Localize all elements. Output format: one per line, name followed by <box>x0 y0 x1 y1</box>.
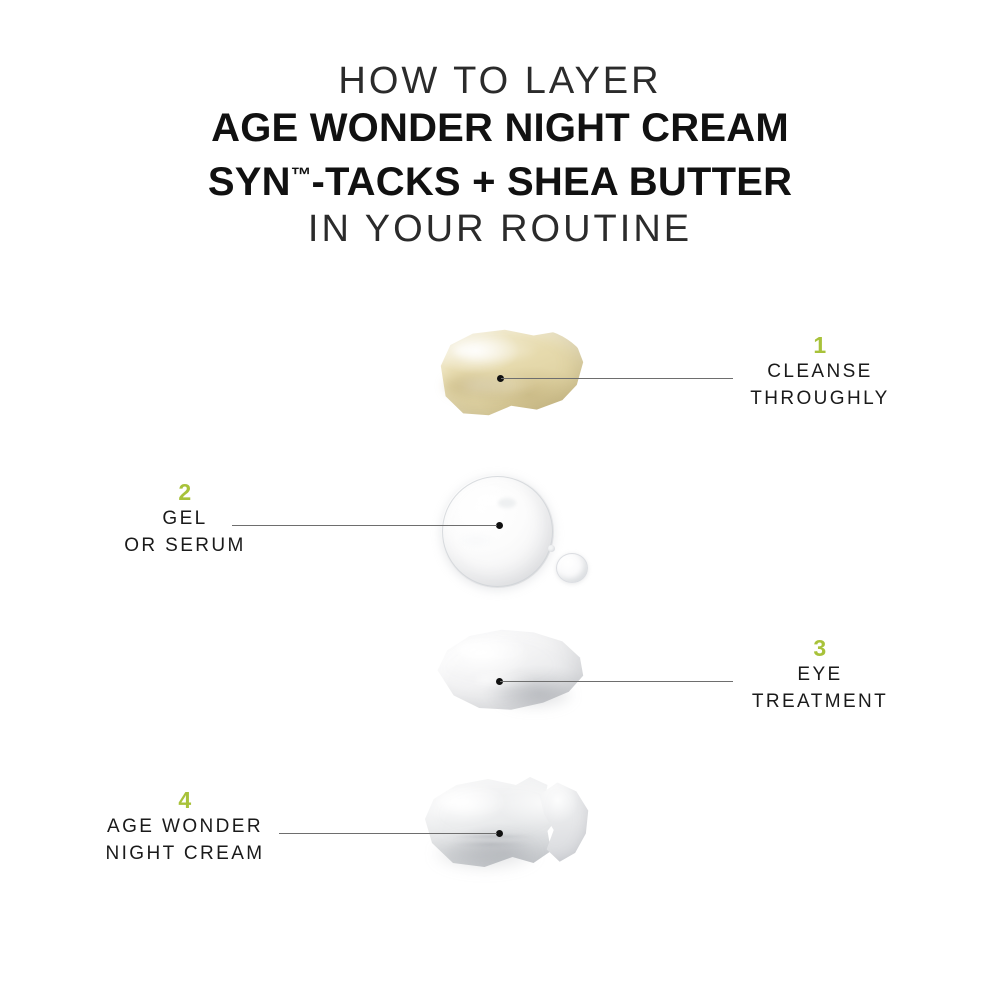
swatch-2-mini-body <box>556 553 588 583</box>
title-syn-text: SYN <box>208 160 291 204</box>
swatch-4-highlight <box>439 791 509 811</box>
step-label-1-line1: CLEANSE <box>690 358 950 385</box>
step-label-2-line1: GEL <box>55 505 315 532</box>
step-number-1: 1 <box>690 332 950 358</box>
title-line-in-your-routine: IN YOUR ROUTINE <box>0 206 1000 252</box>
marker-dot-4 <box>496 830 503 837</box>
step-number-2: 2 <box>55 479 315 505</box>
step-number-3: 3 <box>690 635 950 661</box>
marker-dot-2 <box>496 522 503 529</box>
step-label-2-line2: OR SERUM <box>55 532 315 559</box>
swatch-gel-droplet-clear <box>441 475 554 588</box>
swatch-cream-blob-white <box>428 627 588 717</box>
step-caption-3: 3 EYE TREATMENT <box>690 635 950 715</box>
step-caption-1: 1 CLEANSE THROUGHLY <box>690 332 950 412</box>
step-number-4: 4 <box>55 787 315 813</box>
swatch-1-highlight-top <box>454 341 537 360</box>
swatch-gel-speck <box>548 545 555 552</box>
swatch-gel-satellite-droplet <box>556 553 588 583</box>
step-label-1-line2: THROUGHLY <box>690 385 950 412</box>
swatch-3-shadow <box>498 683 572 708</box>
step-label-4-line2: NIGHT CREAM <box>55 840 315 867</box>
step-label-3-line1: EYE <box>690 661 950 688</box>
swatch-4-streak-upper <box>446 835 537 838</box>
swatch-whipped-cream-grey <box>418 773 593 873</box>
title-line-product-name: AGE WONDER NIGHT CREAM <box>0 104 1000 152</box>
step-row-4: 4 AGE WONDER NIGHT CREAM <box>0 765 1000 925</box>
step-row-3: 3 EYE TREATMENT <box>0 615 1000 775</box>
trademark-icon: ™ <box>291 164 312 187</box>
swatch-4-shadow <box>436 839 534 869</box>
page-title: HOW TO LAYER AGE WONDER NIGHT CREAM SYN™… <box>0 58 1000 252</box>
swatch-2-gloss-small <box>498 498 516 508</box>
swatch-cream-smear-beige <box>428 326 588 421</box>
step-row-2: 2 GEL OR SERUM <box>0 465 1000 625</box>
step-label-3-line2: TREATMENT <box>690 688 950 715</box>
infographic-canvas: HOW TO LAYER AGE WONDER NIGHT CREAM SYN™… <box>0 0 1000 1000</box>
step-caption-2: 2 GEL OR SERUM <box>55 479 315 559</box>
title-line-how-to-layer: HOW TO LAYER <box>0 58 1000 104</box>
step-label-4-line1: AGE WONDER <box>55 813 315 840</box>
step-row-1: 1 CLEANSE THROUGHLY <box>0 318 1000 478</box>
title-line-product-subname: SYN™-TACKS + SHEA BUTTER <box>0 152 1000 206</box>
swatch-1-body <box>428 326 588 421</box>
title-tacks-text: -TACKS + SHEA BUTTER <box>311 160 792 204</box>
step-caption-4: 4 AGE WONDER NIGHT CREAM <box>55 787 315 867</box>
